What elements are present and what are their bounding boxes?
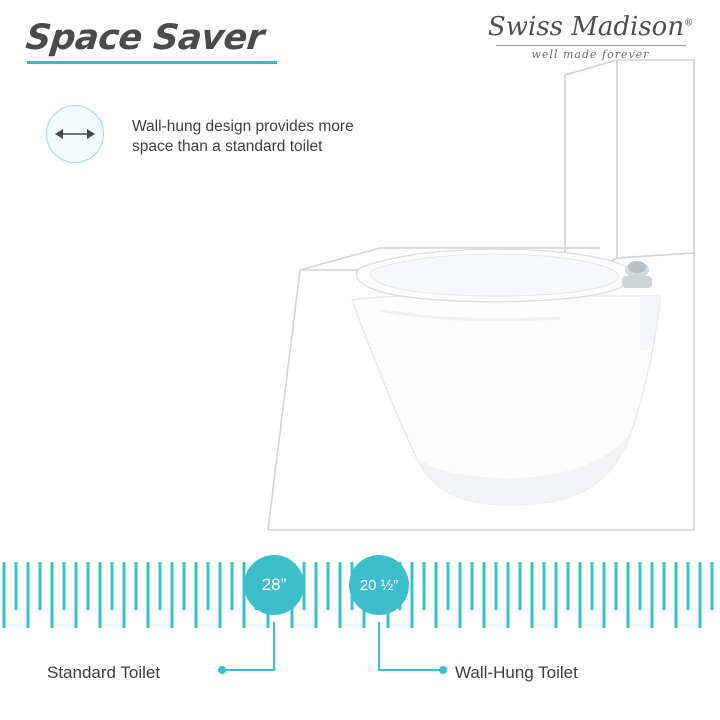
legend-label-wallhung: Wall-Hung Toilet — [455, 663, 578, 683]
legend-connectors — [0, 600, 720, 710]
legend-label-standard: Standard Toilet — [47, 663, 160, 683]
page-title: Space Saver — [24, 18, 266, 58]
brand-tagline: well made forever — [483, 48, 698, 61]
brand-name: Swiss Madison® — [483, 12, 698, 42]
feature-callout: Wall-hung design provides more space tha… — [46, 105, 354, 163]
feature-badge — [46, 105, 104, 163]
feature-text-line2: space than a standard toilet — [132, 137, 354, 157]
feature-text: Wall-hung design provides more space tha… — [132, 117, 354, 157]
brand-divider — [496, 45, 686, 46]
title-underline — [27, 61, 277, 64]
double-arrow-horizontal-icon — [55, 126, 95, 142]
brand-name-text: Swiss Madison — [488, 12, 684, 42]
registered-mark-icon: ® — [684, 18, 693, 28]
brand-logo: Swiss Madison® well made forever — [483, 12, 698, 61]
feature-text-line1: Wall-hung design provides more — [132, 117, 354, 137]
wall-hung-toilet — [352, 249, 660, 505]
